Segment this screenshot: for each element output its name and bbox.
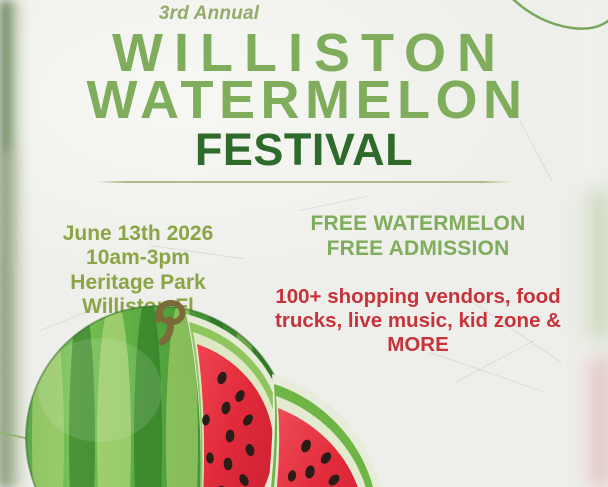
right-edge-red-blur [582, 357, 608, 487]
watermelon-wedge-slice [256, 374, 387, 487]
event-time: 10am-3pm [28, 246, 248, 270]
free-offers: FREE WATERMELON FREE ADMISSION [248, 212, 588, 261]
divider-rule [97, 181, 511, 183]
title-line-festival: FESTIVAL [0, 127, 608, 172]
title-line-watermelon: WATERMELON [0, 74, 608, 126]
free-admission-text: FREE ADMISSION [248, 237, 588, 262]
event-date: June 13th 2026 [28, 222, 248, 246]
kicker-text: 3rd Annual [0, 4, 608, 25]
free-watermelon-text: FREE WATERMELON [248, 212, 588, 237]
headline-block: 3rd Annual WILLISTON WATERMELON FESTIVAL [0, 0, 608, 183]
festival-poster: 3rd Annual WILLISTON WATERMELON FESTIVAL… [0, 0, 608, 487]
watermelon-illustration [0, 300, 470, 487]
event-venue: Heritage Park [28, 271, 248, 295]
watermelon-artwork [0, 300, 470, 487]
